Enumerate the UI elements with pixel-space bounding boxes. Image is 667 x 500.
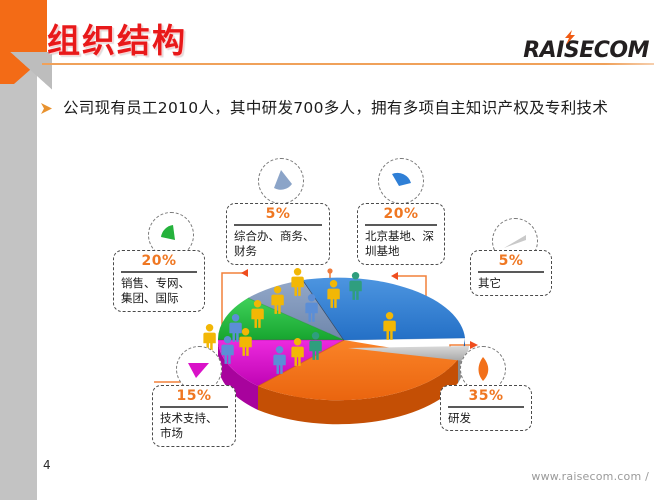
person-icon xyxy=(251,300,263,328)
person-icon xyxy=(349,272,361,300)
slice-icon-support xyxy=(184,354,214,384)
lightning-bolt-icon xyxy=(563,30,577,45)
person-icon xyxy=(291,268,303,296)
callout-bases-label: 北京基地、深圳基地 xyxy=(365,229,437,260)
bullet-text: 公司现有员工2010人，其中研发700多人，拥有多项自主知识产权及专利技术 xyxy=(63,96,608,120)
chip-admin xyxy=(258,158,304,204)
bullet-row: 公司现有员工2010人，其中研发700多人，拥有多项自主知识产权及专利技术 xyxy=(40,96,640,120)
callout-admin-percent: 5% xyxy=(234,206,322,223)
chip-bases xyxy=(378,158,424,204)
person-icon xyxy=(309,332,321,360)
slice-icon-admin xyxy=(266,166,296,196)
slice-icon-rnd xyxy=(468,354,498,384)
callout-other[interactable]: 5% 其它 xyxy=(470,250,552,296)
person-icon xyxy=(221,336,233,364)
callout-divider xyxy=(478,271,544,273)
callout-admin-label: 综合办、商务、财务 xyxy=(234,229,322,260)
callout-divider xyxy=(365,224,437,226)
callout-rnd-percent: 35% xyxy=(448,388,524,405)
arrow-bullet-icon xyxy=(40,102,53,115)
slide-canvas: 组织结构 RAISECOM 公司现有员工2010人，其中研发700多人，拥有多项… xyxy=(0,0,667,500)
callout-admin[interactable]: 5% 综合办、商务、财务 xyxy=(226,203,330,265)
header-rule xyxy=(42,63,654,65)
callout-other-percent: 5% xyxy=(478,253,544,270)
callout-other-label: 其它 xyxy=(478,276,544,292)
callout-support-label: 技术支持、市场 xyxy=(160,411,228,442)
page-title: 组织结构 xyxy=(47,14,187,62)
logo-wordmark: RAISECOM xyxy=(523,38,649,63)
callout-divider xyxy=(234,224,322,226)
callout-support-percent: 15% xyxy=(160,388,228,405)
raisecom-logo: RAISECOM xyxy=(523,38,649,63)
website-url: www.raisecom.com / xyxy=(531,470,649,483)
callout-divider xyxy=(160,406,228,408)
person-icon xyxy=(271,286,283,314)
page-number: 4 xyxy=(43,458,51,472)
callout-divider xyxy=(121,271,197,273)
person-icon xyxy=(305,294,317,322)
person-icon xyxy=(273,346,285,374)
callout-rnd-label: 研发 xyxy=(448,411,524,427)
callout-sales-label: 销售、专网、集团、国际 xyxy=(121,276,197,307)
callout-sales[interactable]: 20% 销售、专网、集团、国际 xyxy=(113,250,205,312)
slice-icon-bases xyxy=(386,166,416,196)
callout-support[interactable]: 15% 技术支持、市场 xyxy=(152,385,236,447)
org-chart-stage: 5% 综合办、商务、财务 20% 北京基地、深圳基地 5% 其它 20% 销售、… xyxy=(0,150,667,460)
callout-divider xyxy=(448,406,524,408)
callout-sales-percent: 20% xyxy=(121,253,197,270)
callout-rnd[interactable]: 35% 研发 xyxy=(440,385,532,431)
person-icon xyxy=(291,338,303,366)
callout-bases[interactable]: 20% 北京基地、深圳基地 xyxy=(357,203,445,265)
person-icon xyxy=(327,280,339,308)
slice-icon-sales xyxy=(156,220,186,250)
person-icon xyxy=(383,312,395,340)
left-rail-diagonal xyxy=(10,52,52,92)
callout-bases-percent: 20% xyxy=(365,206,437,223)
